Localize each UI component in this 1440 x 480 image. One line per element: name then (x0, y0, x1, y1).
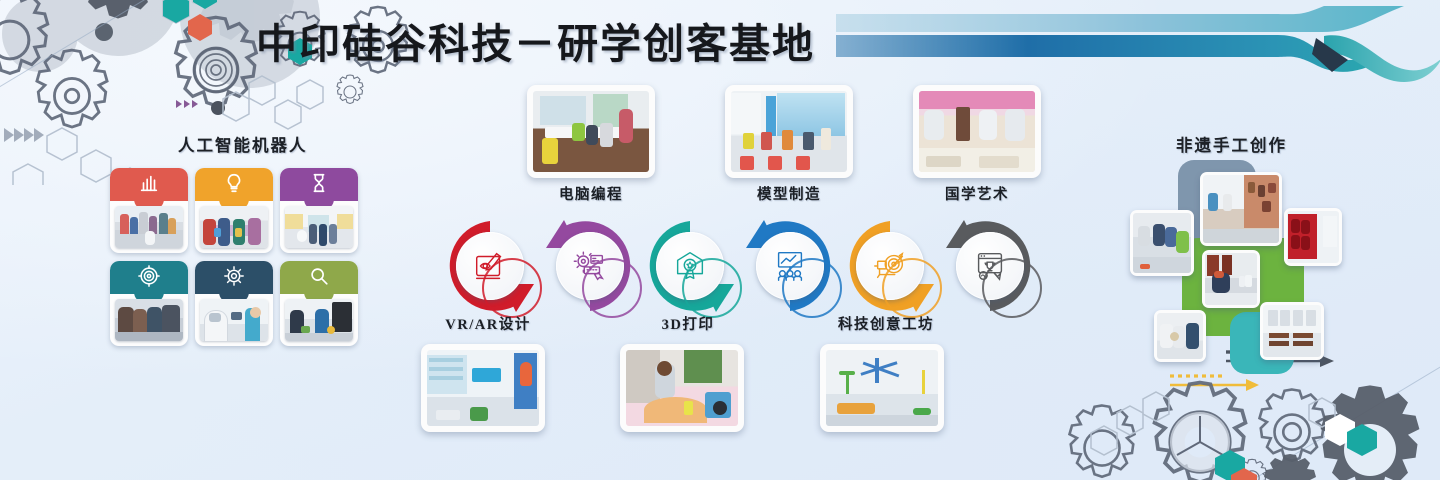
photo-craft-display-hall (1203, 175, 1279, 243)
hourglass-icon (308, 172, 330, 194)
section-heading-ai-robotics: 人工智能机器人 (178, 132, 308, 156)
photo-red-lanterns-corridor (1287, 211, 1339, 263)
badge-3d-printing[interactable] (636, 212, 744, 320)
photo-computer-programming-class (533, 91, 649, 172)
mini-card[interactable] (280, 168, 358, 253)
mini-card[interactable] (195, 261, 273, 346)
decor-ribbon (808, 2, 1440, 94)
heritage-photo-cluster (1108, 160, 1370, 375)
photo-card-vr-ar-lab[interactable] (421, 344, 545, 432)
badge-creative-tech-workshop[interactable] (836, 212, 944, 320)
photo-red-lanterns[interactable] (1284, 208, 1342, 266)
photo-robot-corridor-demo (285, 206, 353, 248)
badge-vr-ar-design[interactable] (436, 212, 544, 320)
badge-inner (456, 232, 524, 300)
photo-pottery-station[interactable] (1202, 250, 1260, 308)
photo-card-chinese-arts[interactable] (913, 85, 1041, 178)
banner-root: 中印硅谷科技－研学创客基地 人工智能机器人 非遗手工创作 (0, 0, 1440, 480)
section-heading-heritage-craft: 非遗手工创作 (1176, 132, 1287, 156)
magnifier-icon (308, 265, 330, 287)
photo-creative-tech-models (826, 350, 938, 426)
photo-calligraphy-room[interactable] (1260, 302, 1324, 360)
photo-handicraft-class-students (1133, 213, 1191, 273)
badge-chinese-arts[interactable] (936, 212, 1044, 320)
badge-inner (856, 232, 924, 300)
photo-kids-workshop-tables (200, 206, 268, 248)
mini-card[interactable] (195, 168, 273, 253)
photo-card-label: 国学艺术 (877, 183, 1077, 204)
photo-teacher-demo[interactable] (1154, 310, 1206, 362)
badge-inner (756, 232, 824, 300)
mini-card[interactable] (110, 261, 188, 346)
badge-model-making[interactable] (736, 212, 844, 320)
photo-teacher-demonstration (1157, 313, 1203, 359)
badge-inner (956, 232, 1024, 300)
photo-maker-lab-bench (285, 299, 353, 341)
photo-card-3d-printing[interactable] (620, 344, 744, 432)
lightbulb-icon (223, 172, 245, 194)
mini-card[interactable] (110, 168, 188, 253)
photo-vr-ar-lab-lobby (427, 350, 539, 426)
decor-arrow-yellow (1170, 376, 1259, 391)
photo-card-label: 模型制造 (689, 183, 889, 204)
ai-robotics-card-grid (110, 168, 358, 346)
gear-clock-icon (223, 265, 245, 287)
photo-child-tablet-robot (200, 299, 268, 341)
photo-craft-hall[interactable] (1200, 172, 1282, 246)
badge-label: 3D打印 (588, 313, 788, 334)
badge-inner (656, 232, 724, 300)
photo-card-model-making[interactable] (725, 85, 853, 178)
photo-handicraft-class[interactable] (1130, 210, 1194, 276)
badge-computer-programming[interactable] (536, 212, 644, 320)
program-badge-row (436, 212, 1046, 320)
photo-card-creative-tech[interactable] (820, 344, 944, 432)
photo-calligraphy-classroom (1263, 305, 1321, 357)
badge-inner (556, 232, 624, 300)
badge-label: VR/AR设计 (388, 313, 588, 334)
photo-model-making-classroom (731, 91, 847, 172)
photo-card-computer-programming[interactable] (527, 85, 655, 178)
photo-3d-printing-activity (626, 350, 738, 426)
photo-robot-exhibition-hall (115, 206, 183, 248)
bar-chart-icon (138, 172, 160, 194)
photo-chinese-studies-art-room (919, 91, 1035, 172)
photo-card-label: 电脑编程 (491, 183, 691, 204)
photo-pottery-workstation (1205, 253, 1257, 305)
badge-label: 科技创意工坊 (786, 313, 986, 334)
photo-students-robot-arm (115, 299, 183, 341)
mini-card[interactable] (280, 261, 358, 346)
page-title: 中印硅谷科技－研学创客基地 (256, 10, 815, 70)
target-icon (138, 265, 160, 287)
